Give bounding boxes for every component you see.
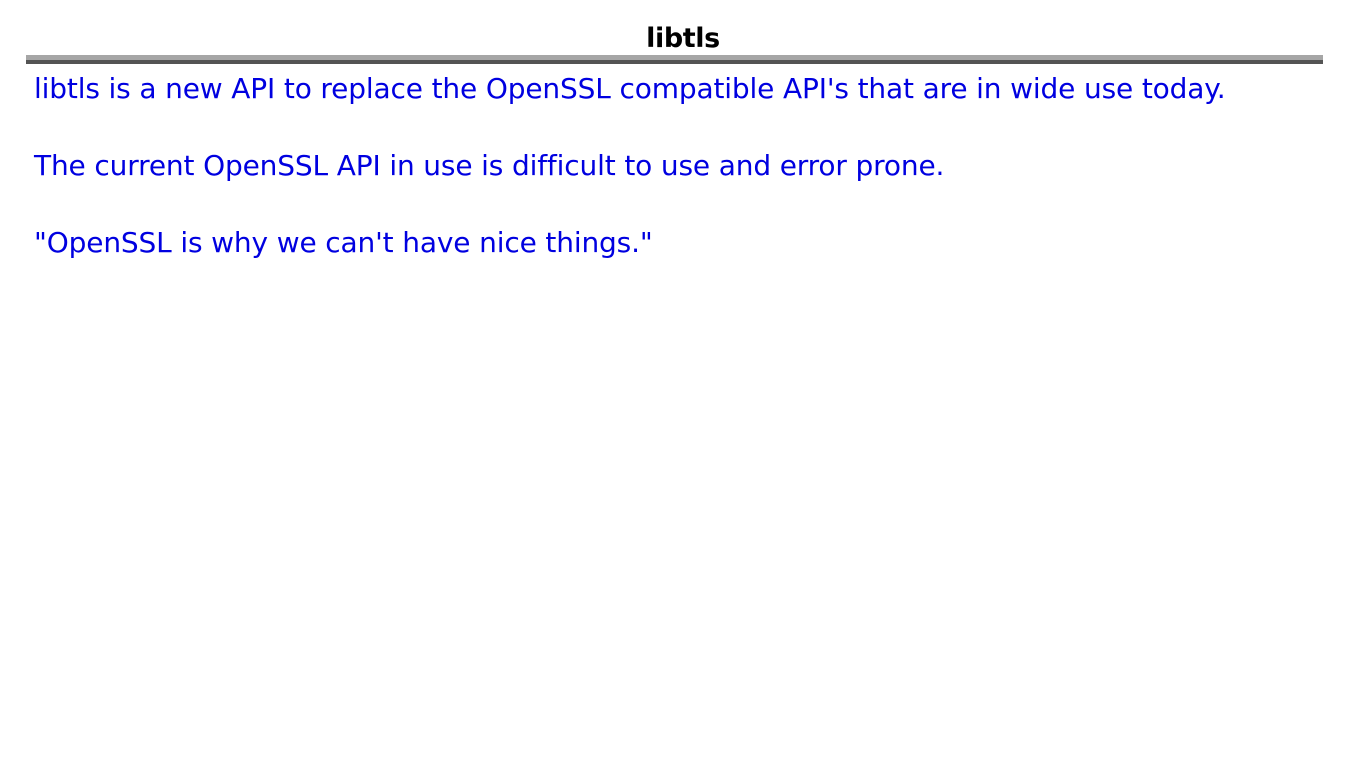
body-line-2: The current OpenSSL API in use is diffic… <box>34 147 1334 185</box>
title-divider <box>26 55 1323 64</box>
page-title: libtls <box>0 23 1366 55</box>
body-line-1: libtls is a new API to replace the OpenS… <box>34 70 1334 108</box>
slide-body: libtls is a new API to replace the OpenS… <box>34 70 1334 262</box>
presentation-slide: libtls libtls is a new API to replace th… <box>0 0 1366 768</box>
title-divider-dark-band <box>26 60 1323 64</box>
body-line-3: "OpenSSL is why we can't have nice thing… <box>34 224 1334 262</box>
